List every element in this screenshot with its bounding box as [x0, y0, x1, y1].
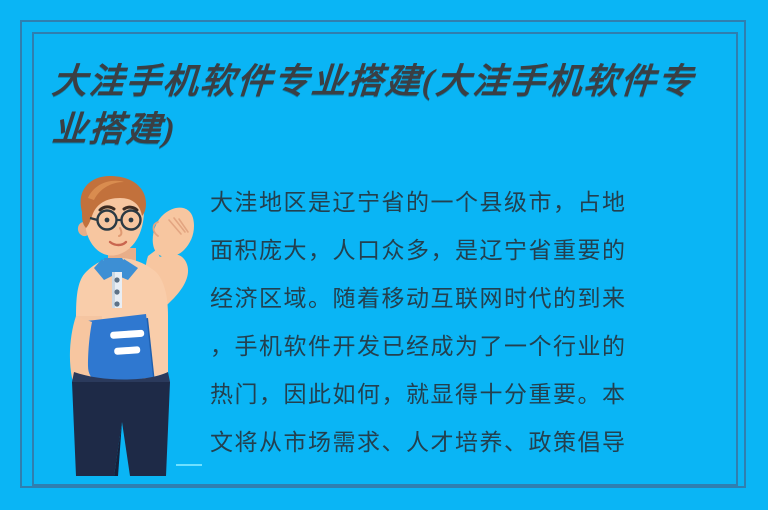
title-line-1: 大洼手机软件专业搭建(大洼手机软件专	[50, 58, 733, 106]
body-line-2: 面积庞大，人口众多，是辽宁省重要的	[210, 226, 730, 274]
body-line-5: 热门，因此如何，就显得十分重要。本	[210, 370, 730, 418]
illustration-man-waving-holding-folder	[52, 176, 232, 476]
poster-canvas: 大洼手机软件专业搭建(大洼手机软件专 业搭建)	[0, 0, 768, 510]
title-line-2: 业搭建)	[50, 106, 733, 154]
page-title: 大洼手机软件专业搭建(大洼手机软件专 业搭建)	[52, 58, 732, 154]
underline-mark	[176, 464, 202, 466]
body-line-3: 经济区域。随着移动互联网时代的到来	[210, 274, 730, 322]
head-group	[78, 176, 146, 256]
body-paragraph: 大洼地区是辽宁省的一个县级市，占地 面积庞大，人口众多，是辽宁省重要的 经济区域…	[210, 178, 730, 466]
body-line-1: 大洼地区是辽宁省的一个县级市，占地	[210, 178, 730, 226]
body-line-4: ，手机软件开发已经成为了一个行业的	[210, 322, 730, 370]
body-line-6: 文将从市场需求、人才培养、政策倡导	[210, 418, 730, 466]
pants-group	[72, 372, 170, 476]
